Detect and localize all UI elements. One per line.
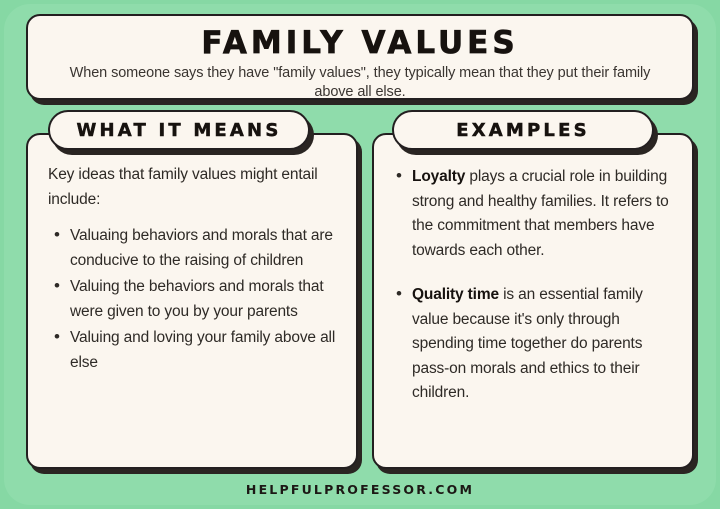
list-item: Quality time is an essential family valu… xyxy=(412,283,678,406)
what-it-means-card: Key ideas that family values might entai… xyxy=(26,133,358,469)
list-item: Loyalty plays a crucial role in building… xyxy=(412,165,678,263)
list-item: Valuing and loving your family above all… xyxy=(70,326,340,375)
infographic-poster: FAMILY VALUES When someone says they hav… xyxy=(0,0,720,509)
list-item-lead: Quality time xyxy=(412,286,499,303)
page-title: FAMILY VALUES xyxy=(46,24,674,62)
poster-subtitle: When someone says they have "family valu… xyxy=(56,64,664,102)
header-card: FAMILY VALUES When someone says they hav… xyxy=(26,14,694,100)
left-intro-text: Key ideas that family values might entai… xyxy=(48,163,334,212)
right-bullet-list: Loyalty plays a crucial role in building… xyxy=(390,165,678,406)
examples-card: Loyalty plays a crucial role in building… xyxy=(372,133,694,469)
list-item: Valuing the behaviors and morals that we… xyxy=(70,275,340,324)
list-item-lead: Loyalty xyxy=(412,168,465,185)
examples-heading: EXAMPLES xyxy=(392,110,654,150)
list-item: Valuaing behaviors and morals that are c… xyxy=(70,224,340,273)
list-item-body: is an essential family value because it'… xyxy=(412,286,643,401)
left-bullet-list: Valuaing behaviors and morals that are c… xyxy=(44,224,340,375)
what-it-means-heading: WHAT IT MEANS xyxy=(48,110,310,150)
footer-attribution: HELPFULPROFESSOR.COM xyxy=(0,482,720,497)
